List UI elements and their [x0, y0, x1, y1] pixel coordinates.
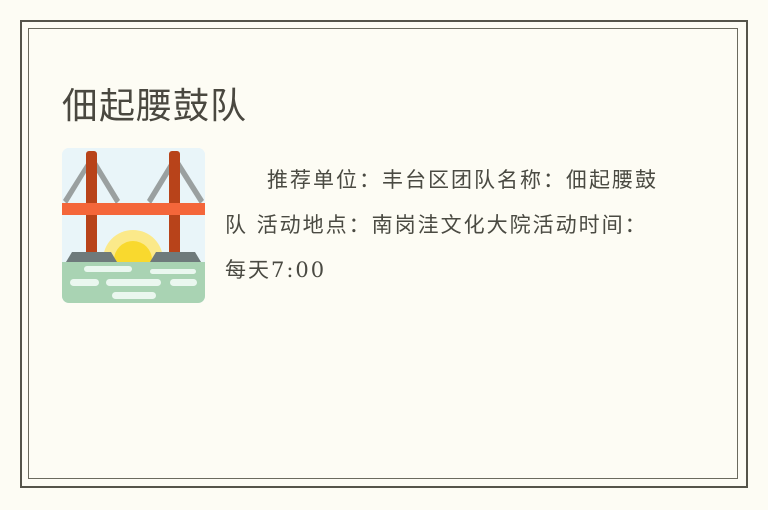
article-body: 推荐单位：丰台区团队名称：佃起腰鼓队 活动地点：南岗洼文化大院活动时间：每天7:… — [62, 146, 662, 309]
bridge-sunset-icon — [62, 148, 205, 303]
article-content: 佃起腰鼓队 — [28, 28, 738, 479]
bridge-sunset-illustration-thumbnail — [62, 148, 205, 303]
page-title: 佃起腰鼓队 — [62, 84, 247, 128]
